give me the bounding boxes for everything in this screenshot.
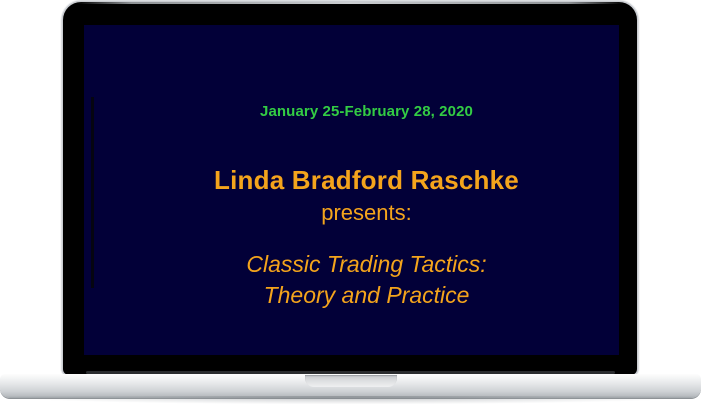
lid-top-highlight (77, 2, 623, 4)
slide-subtitle-line-1: Classic Trading Tactics: (114, 249, 619, 280)
slide-date-line: January 25-February 28, 2020 (114, 103, 619, 120)
laptop-drop-shadow (18, 396, 683, 404)
laptop-device: January 25-February 28, 2020 Linda Bradf… (0, 0, 701, 405)
laptop-front-notch (305, 375, 397, 387)
laptop-lid: January 25-February 28, 2020 Linda Bradf… (63, 2, 637, 375)
slide-left-rule (91, 97, 94, 288)
laptop-screen[interactable]: January 25-February 28, 2020 Linda Bradf… (84, 25, 619, 355)
slide-presenter-name: Linda Bradford Raschke (114, 165, 619, 196)
slide-subtitle-line-2: Theory and Practice (114, 280, 619, 311)
presentation-slide: January 25-February 28, 2020 Linda Bradf… (114, 25, 619, 355)
slide-subtitle: Classic Trading Tactics: Theory and Prac… (114, 249, 619, 311)
slide-presents-label: presents: (114, 200, 619, 226)
